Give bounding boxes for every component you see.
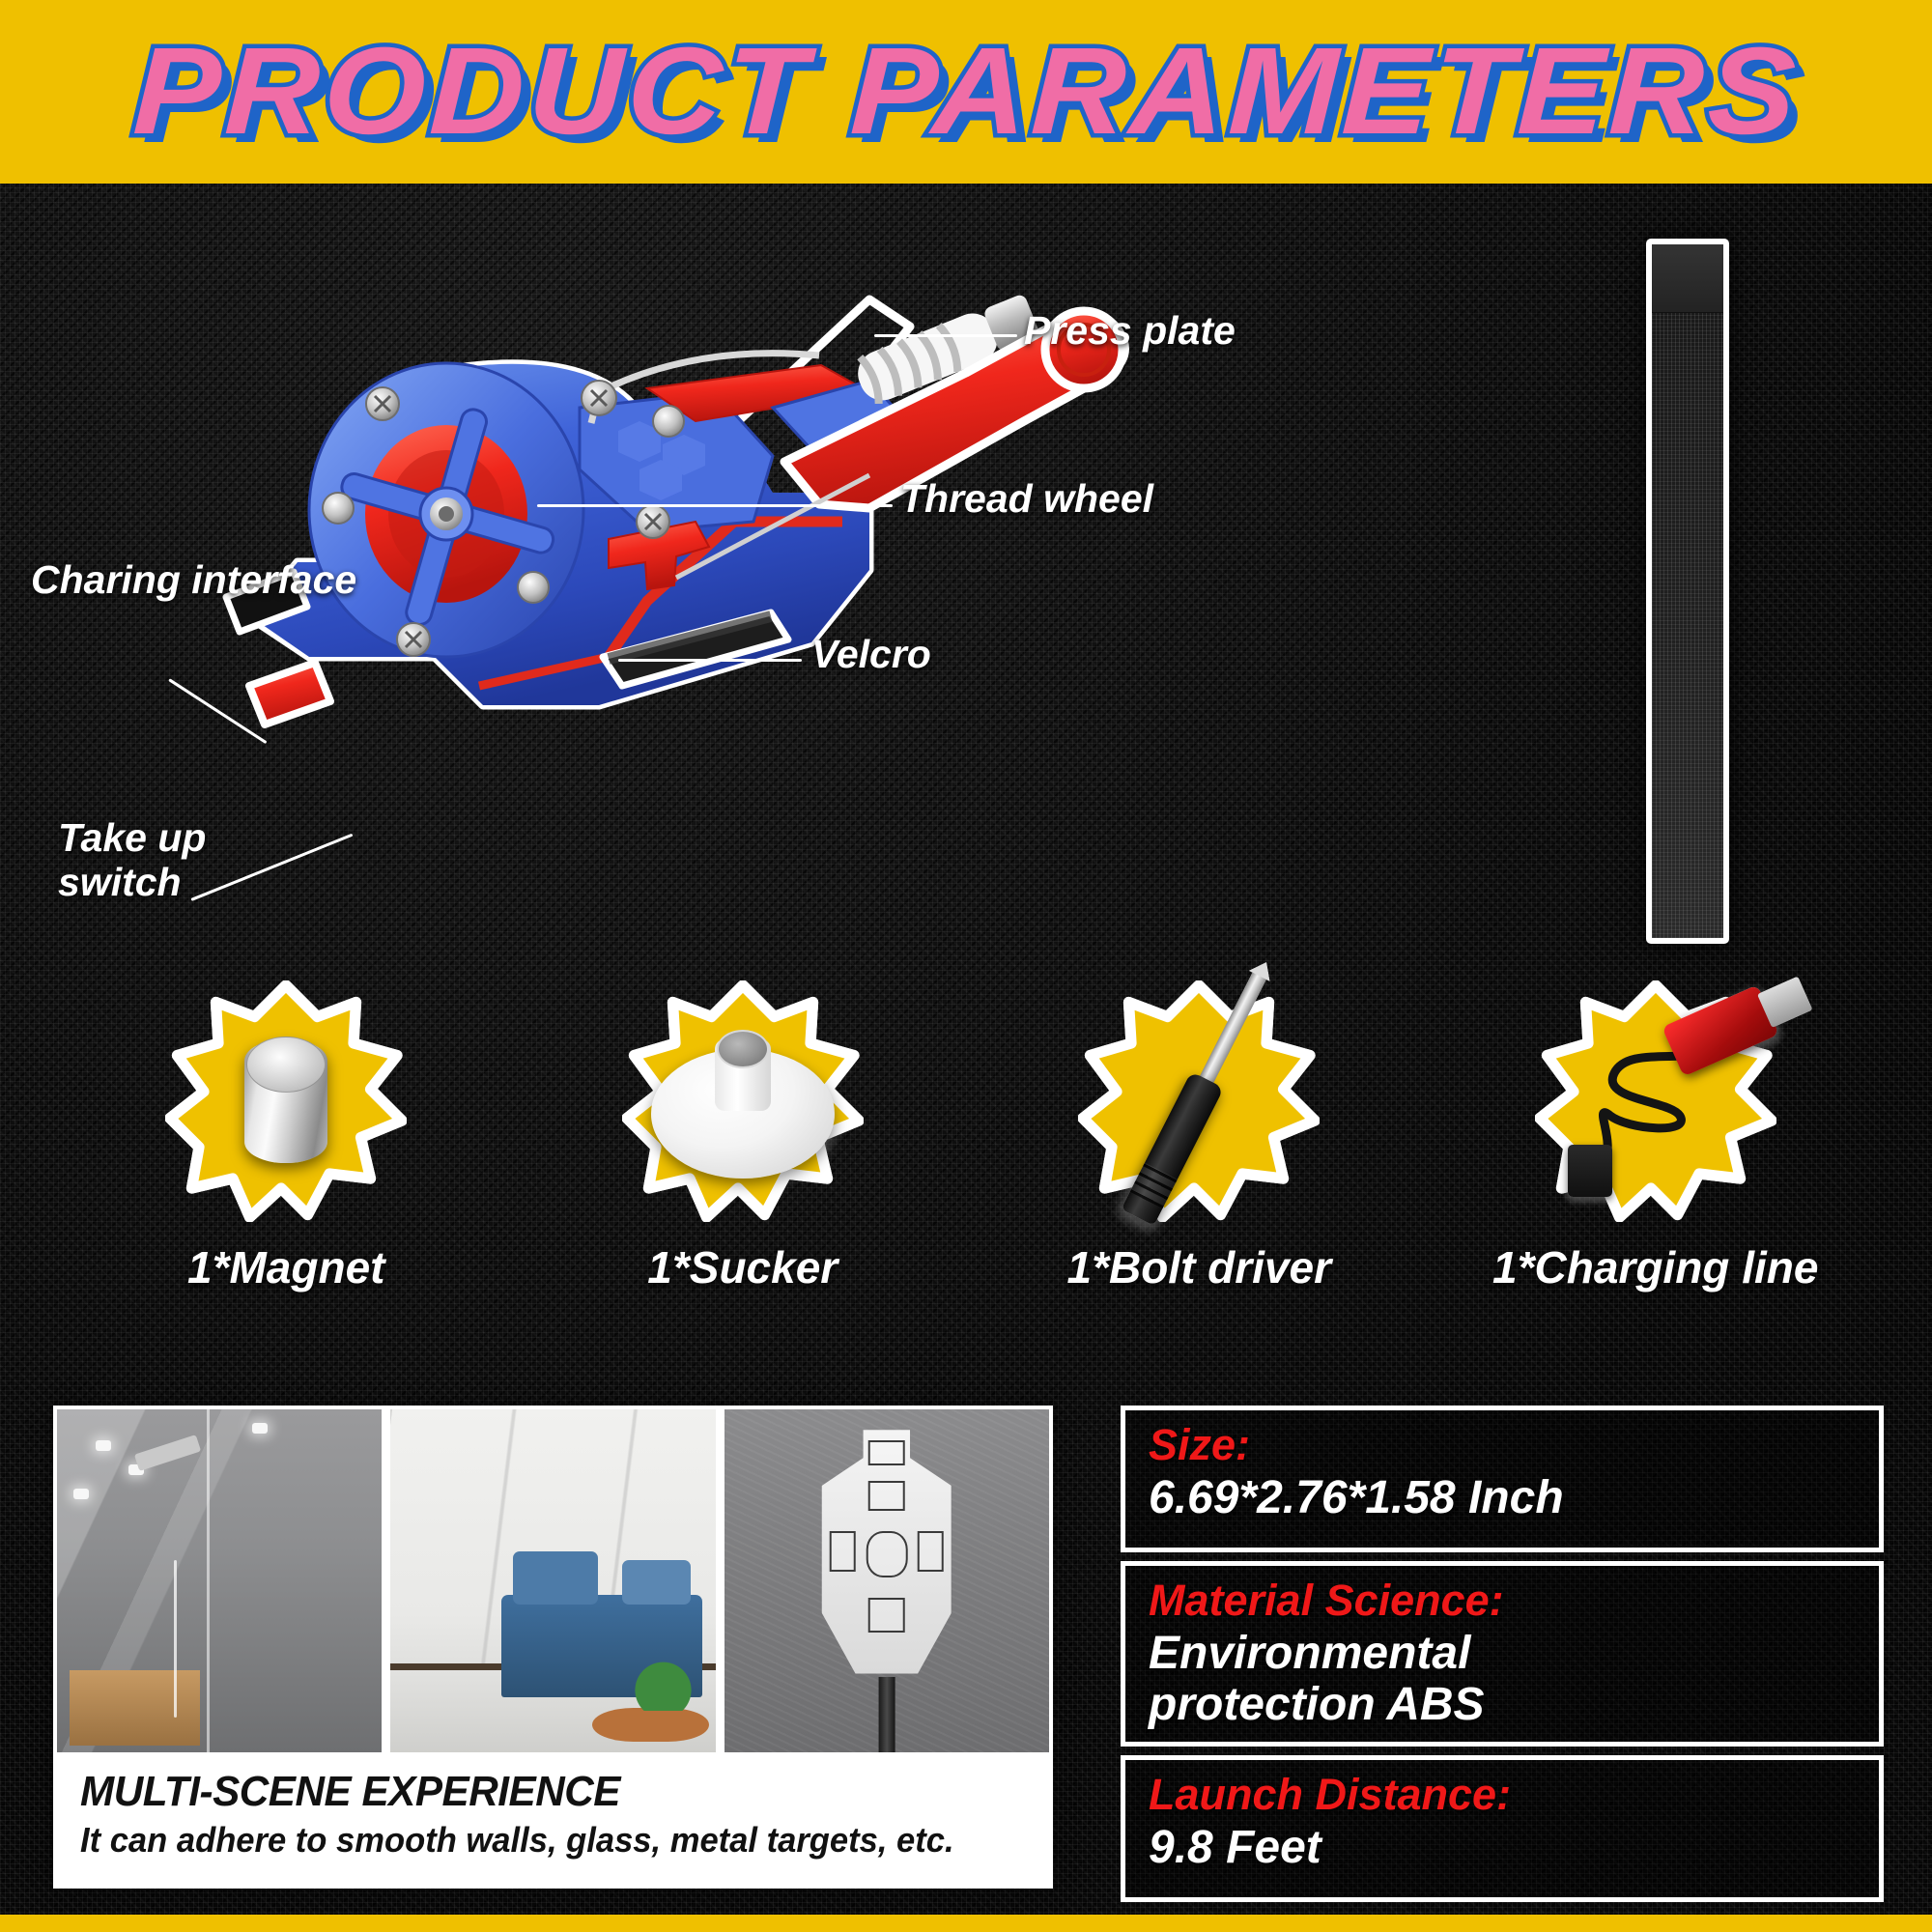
accessory-row: 1*Magnet 1*Sucker 1*Bolt driver (58, 980, 1884, 1357)
gallery-caption: MULTI-SCENE EXPERIENCE It can adhere to … (57, 1752, 1049, 1885)
spec-value-size: 6.69*2.76*1.58 Inch (1149, 1473, 1856, 1524)
callout-velcro: Velcro (811, 633, 931, 677)
burst-badge-sucker (622, 980, 864, 1222)
spec-value-material: Environmental protection ABS (1149, 1629, 1856, 1731)
accessory-label-bolt-driver: 1*Bolt driver (1066, 1241, 1331, 1293)
accessory-magnet: 1*Magnet (58, 980, 515, 1357)
leader-line-velcro (618, 659, 802, 662)
callout-take-up-switch: Take up switch (58, 816, 206, 905)
accessory-label-sucker: 1*Sucker (647, 1241, 838, 1293)
take-up-switch-part (249, 663, 330, 724)
gallery-subtitle: It can adhere to smooth walls, glass, me… (80, 1820, 992, 1861)
footer-stripe (0, 1915, 1932, 1932)
burst-badge-bolt-driver (1078, 980, 1320, 1222)
accessory-charging-line: 1*Charging line (1428, 980, 1885, 1357)
spec-key-launch-distance: Launch Distance: (1149, 1771, 1856, 1819)
gallery-photo-metal-target (724, 1409, 1049, 1752)
spec-value-launch-distance: 9.8 Feet (1149, 1823, 1856, 1874)
leader-line-thread-wheel (537, 504, 893, 507)
callout-press-plate: Press plate (1024, 309, 1236, 354)
spec-key-material: Material Science: (1149, 1577, 1856, 1625)
callout-thread-wheel: Thread wheel (900, 477, 1153, 522)
leader-line-press-plate (874, 334, 1017, 337)
accessory-sucker: 1*Sucker (515, 980, 972, 1357)
usb-cable-icon (1535, 1000, 1776, 1203)
gallery-photo-living-room (390, 1409, 715, 1752)
spec-row-size: Size: 6.69*2.76*1.58 Inch (1121, 1406, 1884, 1552)
multi-scene-gallery: MULTI-SCENE EXPERIENCE It can adhere to … (53, 1406, 1053, 1889)
spec-row-material: Material Science: Environmental protecti… (1121, 1561, 1884, 1747)
accessory-label-charging-line: 1*Charging line (1492, 1241, 1818, 1293)
specs-panel: Size: 6.69*2.76*1.58 Inch Material Scien… (1121, 1406, 1884, 1889)
page-title: PRODUCT PARAMETERS (130, 30, 1801, 154)
header-banner: PRODUCT PARAMETERS (0, 0, 1932, 184)
accessory-bolt-driver: 1*Bolt driver (971, 980, 1428, 1357)
accessory-label-magnet: 1*Magnet (187, 1241, 384, 1293)
spec-key-size: Size: (1149, 1421, 1856, 1469)
gallery-title: MULTI-SCENE EXPERIENCE (80, 1768, 992, 1816)
gallery-photo-strip (57, 1409, 1049, 1752)
burst-badge-magnet (165, 980, 407, 1222)
product-device-image (193, 203, 1159, 744)
callout-charging-interface: Charing interface (31, 558, 356, 603)
spec-row-launch-distance: Launch Distance: 9.8 Feet (1121, 1755, 1884, 1902)
magnet-icon (244, 1039, 327, 1163)
burst-badge-charging-line (1535, 980, 1776, 1222)
screwdriver-icon (1167, 956, 1231, 1246)
gallery-photo-bathroom (57, 1409, 382, 1752)
velcro-strap (1646, 239, 1729, 944)
sucker-icon (651, 1024, 835, 1179)
